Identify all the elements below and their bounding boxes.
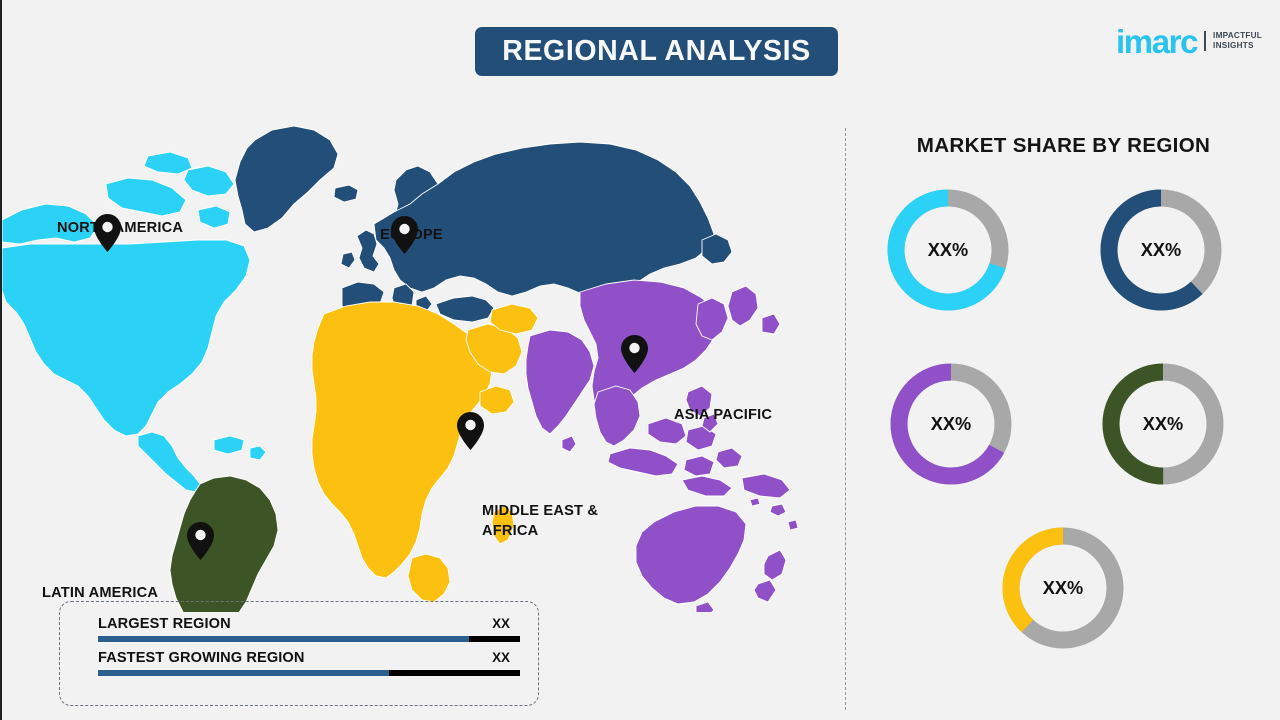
legend-label: FASTEST GROWING REGION: [98, 650, 305, 666]
legend-bar-track: [98, 670, 520, 676]
map-label-middle-east-africa: MIDDLE EAST & AFRICA: [482, 501, 632, 541]
page-title-banner: REGIONAL ANALYSIS: [475, 27, 838, 76]
logo-wordmark: imarc: [1116, 25, 1197, 58]
map-region-asia-pacific: [526, 280, 798, 612]
legend-value: XX: [492, 650, 510, 665]
legend-value: XX: [492, 616, 510, 631]
logo-tagline: IMPACTFUL INSIGHTS: [1204, 31, 1262, 50]
donut-gauge: XX%: [879, 181, 1017, 319]
chart-title: MARKET SHARE BY REGION: [845, 134, 1280, 158]
logo-tagline-line-2: INSIGHTS: [1213, 41, 1262, 51]
legend-row-fastest-growing-region: FASTEST GROWING REGION XX: [98, 650, 520, 676]
legend-bar-fill: [98, 636, 469, 642]
region-summary-box: LARGEST REGION XX FASTEST GROWING REGION…: [59, 601, 539, 706]
map-pin-icon[interactable]: [94, 214, 121, 257]
map-pin-icon[interactable]: [457, 412, 484, 455]
legend-bar-track: [98, 636, 520, 642]
donut-value-label: XX%: [1094, 355, 1232, 493]
world-map-panel: NORTH AMERICA EUROPE ASIA PACIFIC MIDDLE…: [2, 92, 845, 612]
map-region-north-america: [2, 152, 266, 492]
logo-tagline-line-1: IMPACTFUL: [1213, 31, 1262, 41]
imarc-logo: imarc IMPACTFUL INSIGHTS: [1116, 22, 1262, 60]
donut-value-label: XX%: [994, 519, 1132, 657]
page-title: REGIONAL ANALYSIS: [502, 35, 810, 68]
donut-gauge: XX%: [882, 355, 1020, 493]
legend-label: LARGEST REGION: [98, 616, 231, 632]
map-label-asia-pacific: ASIA PACIFIC: [674, 405, 772, 425]
donut-gauge: XX%: [1094, 355, 1232, 493]
map-pin-icon[interactable]: [621, 335, 648, 378]
legend-bar-fill: [98, 670, 389, 676]
market-share-panel: MARKET SHARE BY REGION XX%XX%XX%XX%XX%: [845, 92, 1280, 720]
donut-value-label: XX%: [1092, 181, 1230, 319]
donut-gauge: XX%: [994, 519, 1132, 657]
map-region-middle-east-africa: [312, 302, 538, 602]
map-pin-icon[interactable]: [391, 216, 418, 259]
donut-value-label: XX%: [882, 355, 1020, 493]
donut-gauge: XX%: [1092, 181, 1230, 319]
legend-row-largest-region: LARGEST REGION XX: [98, 616, 520, 642]
world-map: [2, 92, 845, 612]
map-pin-icon[interactable]: [187, 522, 214, 565]
donut-value-label: XX%: [879, 181, 1017, 319]
